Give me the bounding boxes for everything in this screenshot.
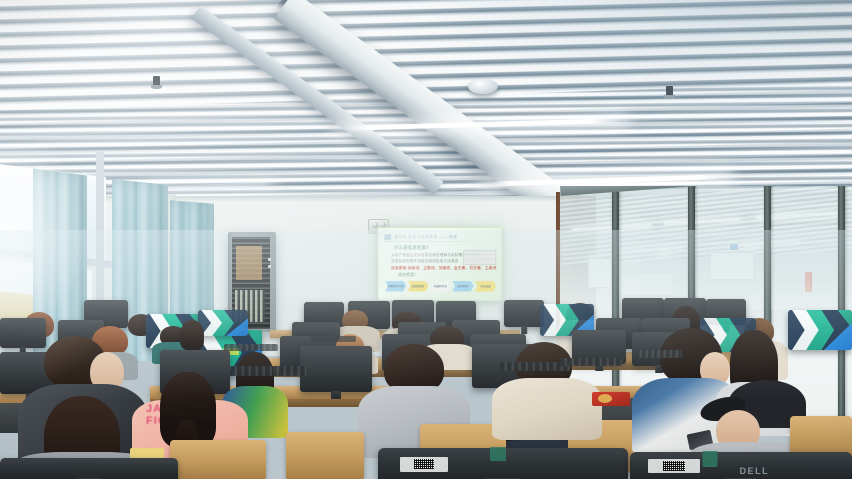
- monitor-foreground-left: [0, 458, 178, 479]
- monitor-r5-7: [504, 300, 544, 327]
- qr-code-icon: [663, 461, 685, 471]
- classroom-photo: 第四章 信息与信息技术 —— 概述 什么是信息检索? 从用户角度出发对信息检索的…: [0, 0, 852, 479]
- slide-key-line: 检索要素:检索词、主题词、关键词、全文库、引文库、工具书: [391, 266, 496, 271]
- monitor-foreground-dell: DELL: [630, 452, 852, 479]
- sprinkler-left-icon: [153, 76, 160, 86]
- slide-title-row: 第四章 信息与信息技术 —— 概述: [384, 233, 495, 241]
- keyboard-5[interactable]: [224, 344, 278, 351]
- slide-title: 第四章 信息与信息技术 —— 概述: [394, 234, 457, 239]
- monitor-r4-left1: [0, 318, 46, 348]
- monitor-graphic-5: [788, 310, 852, 350]
- hair: [180, 320, 204, 350]
- keyboard-3[interactable]: [560, 358, 622, 366]
- slide-paragraph-2: 信息检索的基本流程及常用检索方法简述: [391, 259, 458, 264]
- green-tape-marker: [490, 447, 506, 461]
- smoke-detector-icon: [468, 79, 498, 94]
- torso: [492, 378, 602, 440]
- rack-interior-glow: [236, 246, 262, 280]
- slide-question: 如何检索?: [398, 273, 417, 278]
- green-tape-marker: [702, 451, 717, 467]
- keyboard-4[interactable]: [636, 350, 682, 358]
- rack-led-1: [268, 258, 271, 261]
- cable-bundle: [310, 336, 356, 342]
- glass-mullion-4: [838, 186, 845, 424]
- monitor-r2-2: [300, 346, 372, 392]
- slide-divider: [384, 241, 496, 242]
- slide-step-3: 构建检索式: [430, 280, 451, 291]
- slide-step-4: 执行检索: [453, 281, 474, 292]
- slide-step-1: 明确检索 需求: [385, 280, 406, 291]
- slide-step-2: 选择数据库: [408, 280, 429, 291]
- qr-code-icon: [414, 459, 434, 470]
- monitor-foreground-center: [378, 448, 628, 479]
- slide-process-flow: 明确检索 需求 选择数据库 构建检索式 执行检索 评价结果: [385, 280, 496, 292]
- monitor-graphic-3: [198, 310, 248, 336]
- red-folder-emblem-icon: [598, 394, 612, 403]
- monitor-graphic-teal-corner: [832, 310, 852, 328]
- keyboard-1[interactable]: [230, 366, 308, 376]
- chair-back-1: [170, 440, 266, 479]
- slide-heading: 什么是信息检索?: [394, 245, 429, 251]
- rack-led-2: [268, 265, 271, 268]
- slide-comparison-table: [463, 250, 496, 265]
- slide-step-5: 评价结果: [475, 281, 496, 292]
- chair-back-2: [286, 432, 364, 479]
- dell-logo: DELL: [740, 466, 770, 476]
- asset-sticker: [648, 459, 700, 473]
- projection-screen: 第四章 信息与信息技术 —— 概述 什么是信息检索? 从用户角度出发对信息检索的…: [377, 227, 502, 301]
- asset-sticker: [400, 457, 448, 472]
- sprinkler-right-icon: [666, 86, 673, 96]
- slide-chapter-badge-icon: [384, 234, 391, 240]
